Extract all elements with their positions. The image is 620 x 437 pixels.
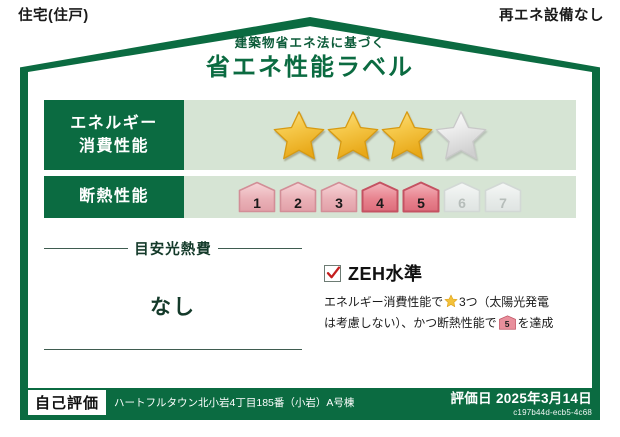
inline-house-level: 5	[499, 320, 516, 329]
evaluation-date-line: 評価日 2025年3月14日	[450, 387, 592, 407]
inline-house-badge: 5	[499, 315, 516, 330]
cost-rule-right	[218, 248, 302, 249]
check-icon	[326, 266, 341, 281]
insulation-level-scale: 1234567	[238, 181, 522, 213]
label-title-block: 建築物省エネ法に基づく 省エネ性能ラベル	[0, 36, 620, 83]
zeh-checkbox[interactable]	[324, 265, 341, 282]
insulation-level-badge: 5	[402, 181, 440, 213]
inline-star-icon	[444, 294, 458, 314]
evaluation-date-label: 評価日	[450, 391, 491, 406]
star-filled-icon	[327, 109, 379, 161]
insulation-level-badge: 1	[238, 181, 276, 213]
insulation-level-number: 3	[320, 196, 358, 210]
zeh-description: エネルギー消費性能で 3つ（太陽光発電 は考慮しない）、かつ断熱性能で 5 を達…	[324, 293, 576, 333]
label-footer: 自己評価 ハートフルタウン北小岩4丁目185番（小岩）A号棟 評価日 2025年…	[28, 385, 592, 419]
renewable-energy-tag-label: 再エネ設備なし	[499, 4, 604, 25]
energy-performance-label: エネルギー 消費性能	[44, 100, 184, 170]
star-empty-icon	[435, 109, 487, 161]
insulation-level-badge: 7	[484, 181, 522, 213]
evaluation-id: c197b44d-ecb5-4c68	[450, 408, 592, 417]
energy-performance-label: 住宅(住戸) 再エネ設備なし 建築物省エネ法に基づく 省エネ性能ラベル エネルギ…	[0, 0, 620, 437]
performance-table: エネルギー 消費性能 断熱性能 1234567	[44, 100, 576, 224]
building-type-tag: 住宅(住戸)	[0, 0, 103, 28]
zeh-desc-part1: エネルギー消費性能で	[324, 295, 443, 309]
cost-heading-row: 目安光熱費	[44, 238, 302, 259]
insulation-level-badge: 6	[443, 181, 481, 213]
zeh-desc-part2: は考慮しない）、かつ断熱性能で	[324, 316, 497, 330]
lower-section: 目安光熱費 なし ZEH水準 エネルギー消費性能で 3つ（太陽光発電	[44, 238, 576, 380]
title-main: 省エネ性能ラベル	[0, 53, 620, 83]
energy-performance-row: エネルギー 消費性能	[44, 100, 576, 170]
insulation-level-badge: 4	[361, 181, 399, 213]
insulation-level-number: 6	[443, 196, 481, 210]
insulation-level-number: 5	[402, 196, 440, 210]
cost-bottom-divider	[44, 349, 302, 350]
star-filled-icon	[273, 109, 325, 161]
building-type-tag-label: 住宅(住戸)	[18, 4, 89, 25]
insulation-label-text: 断熱性能	[79, 185, 149, 208]
energy-performance-value	[184, 100, 576, 170]
cost-value: なし	[44, 291, 302, 321]
insulation-performance-row: 断熱性能 1234567	[44, 176, 576, 218]
evaluation-meta: 評価日 2025年3月14日 c197b44d-ecb5-4c68	[450, 387, 592, 417]
insulation-performance-value: 1234567	[184, 176, 576, 218]
self-evaluation-badge: 自己評価	[28, 390, 106, 415]
zeh-section: ZEH水準 エネルギー消費性能で 3つ（太陽光発電 は考慮しない）、かつ断熱性能…	[302, 238, 576, 380]
star-filled-icon	[381, 109, 433, 161]
insulation-performance-label: 断熱性能	[44, 176, 184, 218]
energy-label-line1: エネルギー	[70, 112, 158, 135]
cost-rule-left	[44, 248, 128, 249]
cost-heading-label: 目安光熱費	[134, 238, 212, 259]
energy-label-line2: 消費性能	[79, 135, 149, 158]
insulation-level-number: 1	[238, 196, 276, 210]
zeh-heading-row: ZEH水準	[324, 260, 576, 286]
evaluation-date-value: 2025年3月14日	[496, 391, 592, 406]
title-subtitle: 建築物省エネ法に基づく	[0, 36, 620, 51]
insulation-level-number: 4	[361, 196, 399, 210]
zeh-desc-star-count: 3つ（太陽光発電	[459, 295, 549, 309]
insulation-level-badge: 3	[320, 181, 358, 213]
zeh-title: ZEH水準	[348, 260, 423, 286]
insulation-level-number: 2	[279, 196, 317, 210]
renewable-energy-tag: 再エネ設備なし	[485, 0, 620, 28]
property-address: ハートフルタウン北小岩4丁目185番（小岩）A号棟	[114, 395, 354, 410]
star-rating	[273, 109, 487, 161]
insulation-level-number: 7	[484, 196, 522, 210]
estimated-utility-cost-section: 目安光熱費 なし	[44, 238, 302, 380]
insulation-level-badge: 2	[279, 181, 317, 213]
zeh-desc-part3: を達成	[518, 316, 554, 330]
